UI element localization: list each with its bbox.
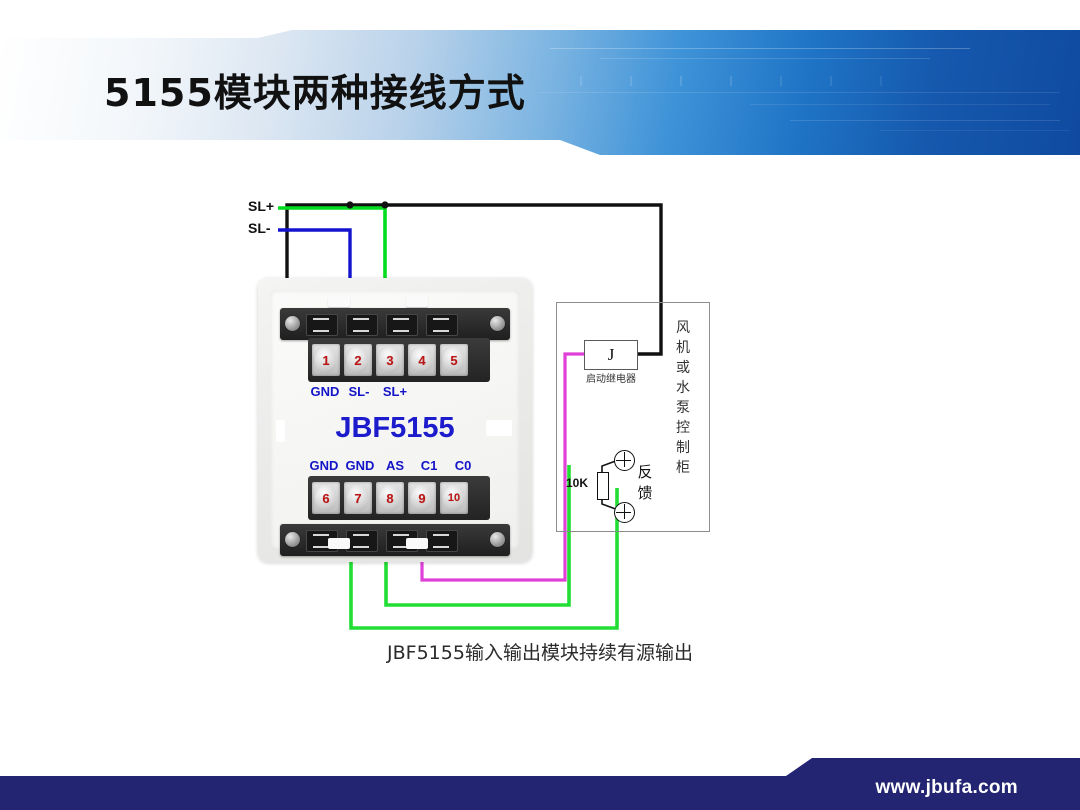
terminal-6[interactable]: 6: [312, 482, 340, 514]
terminal-9[interactable]: 9: [408, 482, 436, 514]
mount-clip-top-1: [328, 296, 350, 307]
terminal-2-number: 2: [354, 353, 361, 368]
slide: 5155模块两种接线方式 SL+ SL-: [0, 0, 1080, 810]
rail-slot-2: [346, 314, 378, 336]
feedback-resistor-symbol: [597, 472, 609, 500]
terminal-5[interactable]: 5: [440, 344, 468, 376]
terminal-4[interactable]: 4: [408, 344, 436, 376]
start-relay-caption: 启动继电器: [566, 370, 656, 385]
cabinet-label-char-4: 泵: [672, 398, 694, 418]
cabinet-label-char-5: 控: [672, 418, 694, 438]
terminal-10[interactable]: 10: [440, 482, 468, 514]
cabinet-vertical-label: 风 机 或 水 泵 控 制 柜: [672, 318, 694, 478]
terminal-3-number: 3: [386, 353, 393, 368]
terminal-block-top[interactable]: 1 2 3 4 5: [308, 338, 490, 382]
rail2-screw-right: [490, 532, 505, 547]
bottom-cable-rail: [280, 524, 510, 556]
jbf5155-module[interactable]: 1 2 3 4 5 GND SL- SL+ JBF5155: [258, 278, 532, 562]
bottom-terminal-labels: GND GND AS C1 C0: [306, 458, 480, 473]
feedback-label-char-0: 反: [636, 462, 654, 483]
module-brand-text: JBF5155: [270, 412, 520, 445]
terminal-7-number: 7: [354, 491, 361, 506]
label-terminal-10: C0: [446, 458, 480, 473]
top-cable-rail: [280, 308, 510, 340]
header-decor-lines: [540, 30, 1080, 155]
feedback-label-char-1: 馈: [636, 483, 654, 504]
slide-header: 5155模块两种接线方式: [0, 0, 1080, 160]
start-relay-symbol: J: [584, 340, 638, 370]
mount-clip-bottom-1: [328, 538, 350, 549]
top-terminal-labels: GND SL- SL+: [308, 384, 414, 399]
terminal-2[interactable]: 2: [344, 344, 372, 376]
label-terminal-1: GND: [308, 384, 342, 399]
mount-clip-bottom-2: [406, 538, 428, 549]
rail-slot-4: [426, 314, 458, 336]
label-terminal-3: SL+: [376, 384, 414, 399]
wire-junction-dot-blue: [346, 201, 353, 208]
slide-footer: www.jbufa.com: [0, 758, 1080, 810]
mount-clip-top-2: [406, 296, 428, 307]
rail-slot-1: [306, 314, 338, 336]
terminal-8-number: 8: [386, 491, 393, 506]
wiring-diagram: SL+ SL- 1 2 3 4: [0, 160, 1080, 760]
resistor-value-label: 10K: [566, 476, 588, 490]
label-terminal-6: GND: [306, 458, 342, 473]
module-faceplate: 1 2 3 4 5 GND SL- SL+ JBF5155: [270, 290, 520, 550]
terminal-8[interactable]: 8: [376, 482, 404, 514]
cabinet-label-char-7: 柜: [672, 458, 694, 478]
feedback-terminal-top[interactable]: [614, 450, 635, 471]
wire-layer: [0, 160, 1080, 760]
label-terminal-7: GND: [342, 458, 378, 473]
terminal-10-number: 10: [448, 492, 460, 504]
cabinet-label-char-2: 或: [672, 358, 694, 378]
terminal-block-bottom[interactable]: 6 7 8 9 10: [308, 476, 490, 520]
terminal-5-number: 5: [450, 353, 457, 368]
bus-label-sl-minus: SL-: [248, 220, 271, 236]
terminal-4-number: 4: [418, 353, 425, 368]
rail2-slot-2: [346, 530, 378, 552]
bus-label-sl-plus: SL+: [248, 198, 274, 214]
cabinet-label-char-6: 制: [672, 438, 694, 458]
wire-junction-dot-green: [381, 201, 388, 208]
page-title: 5155模块两种接线方式: [104, 62, 526, 117]
cabinet-label-char-0: 风: [672, 318, 694, 338]
label-terminal-2: SL-: [342, 384, 376, 399]
terminal-6-number: 6: [322, 491, 329, 506]
rail-screw-right: [490, 316, 505, 331]
label-terminal-8: AS: [378, 458, 412, 473]
terminal-1[interactable]: 1: [312, 344, 340, 376]
cabinet-label-char-1: 机: [672, 338, 694, 358]
rail-screw-left: [285, 316, 300, 331]
diagram-caption: JBF5155输入输出模块持续有源输出: [0, 638, 1080, 665]
terminal-7[interactable]: 7: [344, 482, 372, 514]
terminal-1-number: 1: [322, 353, 329, 368]
label-terminal-9: C1: [412, 458, 446, 473]
rail2-screw-left: [285, 532, 300, 547]
terminal-3[interactable]: 3: [376, 344, 404, 376]
cabinet-label-char-3: 水: [672, 378, 694, 398]
terminal-9-number: 9: [418, 491, 425, 506]
rail-slot-3: [386, 314, 418, 336]
rail2-slot-4: [426, 530, 458, 552]
feedback-terminal-bottom[interactable]: [614, 502, 635, 523]
footer-website-url: www.jbufa.com: [875, 777, 1018, 799]
feedback-label: 反 馈: [636, 462, 654, 504]
